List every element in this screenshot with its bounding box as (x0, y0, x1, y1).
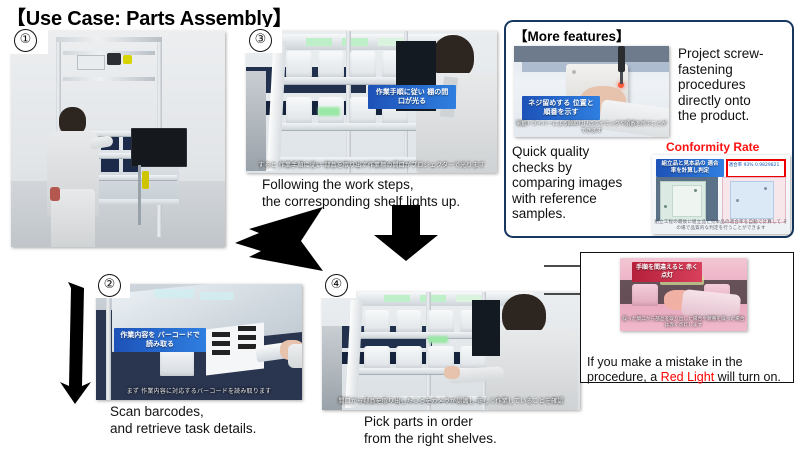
arrow-down-thick-icon (58, 282, 92, 404)
more-features-box: 【More features】 ネジ留めする 位置と順番を示す 電動ドライバーに… (504, 20, 794, 238)
step-2-overlay-tag: 作業内容を バーコードで読み取る (114, 328, 206, 352)
red-light-jp-caption: 誤った間口から部品を取り出した場合や順番を誤った場合は赤く点灯します (620, 317, 747, 329)
step-3-number: ③ (249, 29, 272, 52)
step-2-jp-caption: まず 作業内容に対応するバーコードを読み取ります (96, 388, 302, 396)
callout-red-light-word: Red Light (661, 370, 715, 384)
quality-jp-caption: 組立工程の最後に組立品と見本品の適合率を自動で計算して その場で品質的な判定を行… (652, 220, 790, 232)
step-4-caption: Pick parts in order from the right shelv… (364, 414, 594, 447)
red-light-photo: 手順を間違えると 赤く点灯 誤った間口から部品を取り出した場合や順番を誤った場合… (620, 258, 747, 331)
more-features-title: 【More features】 (514, 25, 630, 45)
step-4-number: ④ (325, 274, 348, 297)
quality-check-photo: 組立品と見本品の 適合率を計算し判定 適合率 93% 0.9829821 組立工… (652, 155, 790, 234)
conformity-rate-label: Conformity Rate (666, 140, 759, 154)
station-monitor (131, 128, 187, 167)
quality-overlay-tag: 組立品と見本品の 適合率を計算し判定 (656, 159, 724, 177)
screw-feature-text: Project screw- fastening procedures dire… (678, 46, 796, 124)
step-2-caption: Scan barcodes, and retrieve task details… (110, 404, 330, 437)
quality-feature-text: Quick quality checks by comparing images… (512, 144, 654, 222)
step-4-jp-caption: 間口から部品を取り出したことをカメラが認識し 正しく作業していることを確認 (322, 398, 580, 406)
step-2-number: ② (98, 274, 121, 297)
screw-overlay-tag: ネジ留めする 位置と順番を示す (522, 96, 600, 120)
step-1-photo (11, 31, 225, 247)
conformity-value: 適合率 93% 0.9829821 (728, 162, 780, 168)
step-3-photo: 作業手順に従い 棚の間口が光る すると 作業手順に従い 部品を取り出す作業棚の間… (246, 31, 497, 173)
step-3-overlay-tag: 作業手順に従い 棚の間口が光る (368, 85, 456, 109)
red-light-callout-text: If you make a mistake in the procedure, … (587, 340, 791, 385)
screw-jp-caption: 電動ドライバーによる締め付けのタイミングや順番を示すことができます (514, 121, 669, 135)
arrow-down-icon (370, 205, 442, 263)
step-3-jp-caption: すると 作業手順に従い 部品を取り出す作業棚の間口がプロジェクターで光ります (246, 162, 497, 170)
step-2-photo: 作業内容を バーコードで読み取る まず 作業内容に対応するバーコードを読み取りま… (96, 284, 302, 400)
arrow-down-left-icon (205, 205, 325, 275)
step-1-number: ① (14, 29, 37, 52)
screw-fastening-photo: ネジ留めする 位置と順番を示す 電動ドライバーによる締め付けのタイミングや順番を… (514, 46, 669, 137)
red-light-overlay-tag: 手順を間違えると 赤く点灯 (632, 262, 702, 282)
callout-text-after: will turn on. (714, 370, 781, 384)
use-case-infographic: 【Use Case: Parts Assembly】 (0, 0, 800, 455)
